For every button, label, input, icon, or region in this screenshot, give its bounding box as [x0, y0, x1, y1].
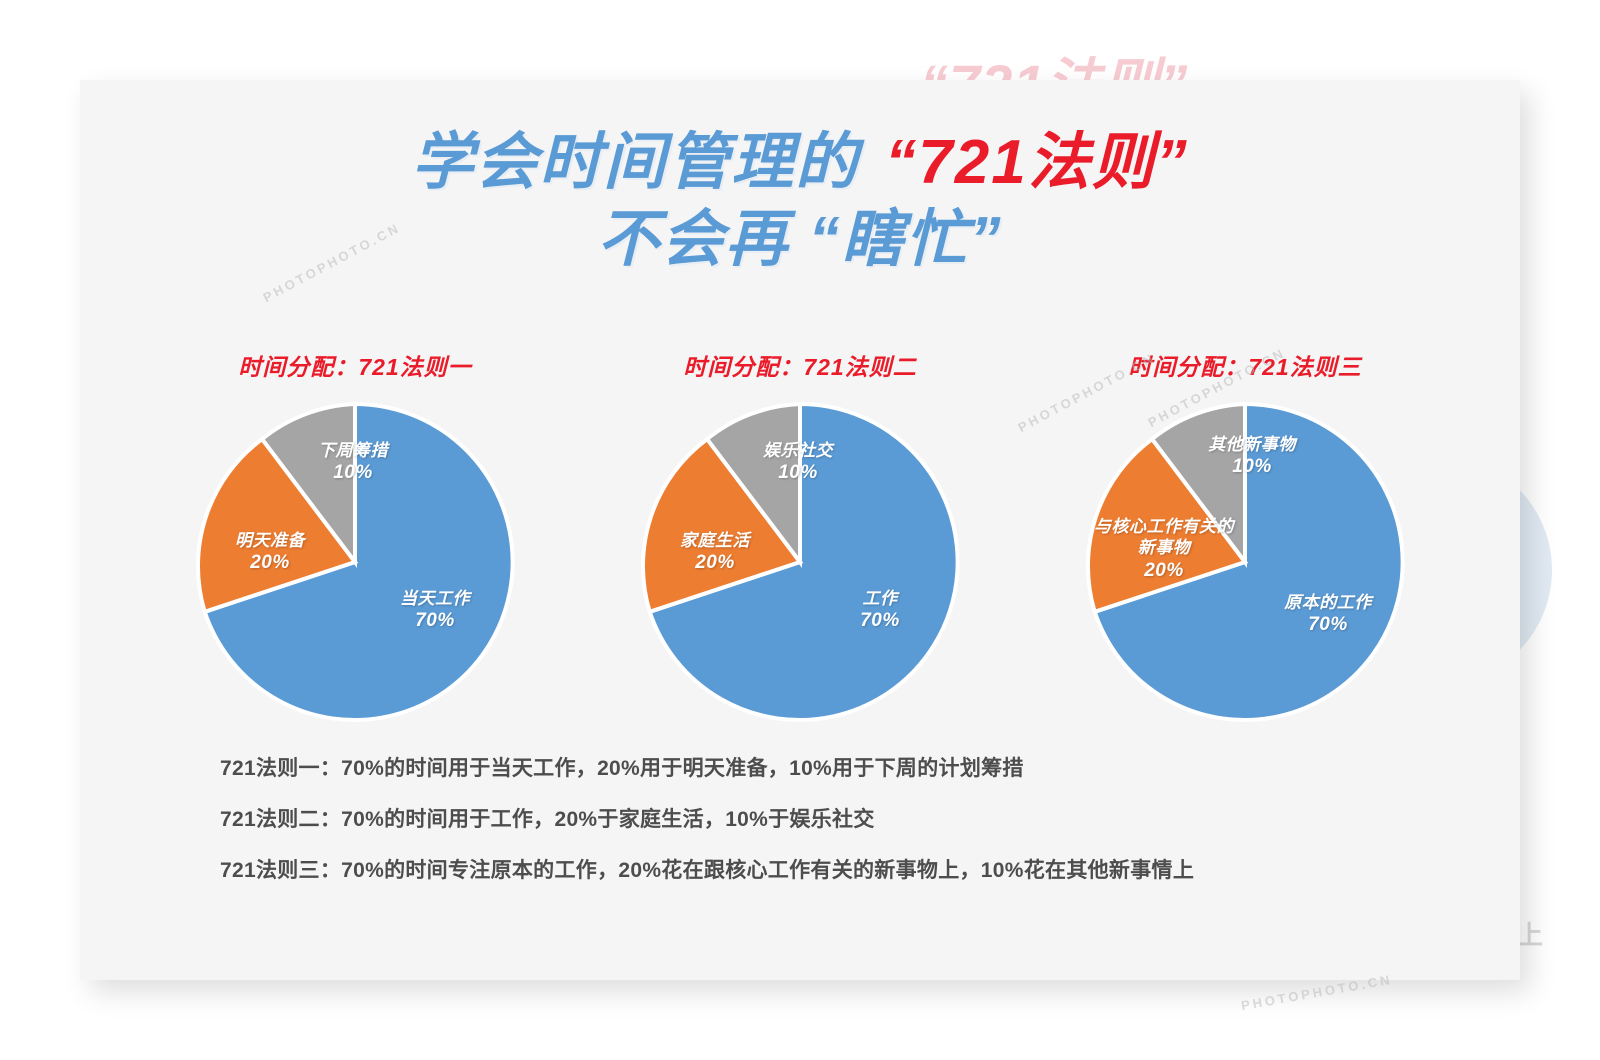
note-line-3: 721法则三：70%的时间专注原本的工作，20%花在跟核心工作有关的新事物上，1…: [220, 854, 1500, 884]
note-line-1: 721法则一：70%的时间用于当天工作，20%用于明天准备，10%用于下周的计划…: [220, 752, 1500, 782]
title-line-2: 不会再 “瞎忙”: [80, 205, 1520, 274]
watermark-site-4: PHOTOPHOTO.CN: [1240, 972, 1394, 1013]
title-line-1: 学会时间管理的“721法则”: [80, 128, 1520, 197]
title-line-1-blue: 学会时间管理的: [411, 128, 859, 197]
poster-canvas: “721法则” 事情上 学会时间管理的“721法则” 不会再 “瞎忙” 时间分配…: [0, 0, 1600, 1060]
chart-1-title: 时间分配：721法则一: [140, 348, 570, 382]
chart-1-pie: 当天工作 70% 明天准备 20% 下周筹措 10%: [185, 392, 525, 732]
pie-chart-3: 时间分配：721法则三 原本的工作 70% 与核心工作有关的新事物 20%: [1030, 348, 1460, 732]
page-title: 学会时间管理的“721法则” 不会再 “瞎忙”: [80, 128, 1520, 275]
pie-chart-2: 时间分配：721法则二 工作 70% 家庭生活 20%: [585, 348, 1015, 732]
notes-list: 721法则一：70%的时间用于当天工作，20%用于明天准备，10%用于下周的计划…: [220, 752, 1500, 905]
title-line-1-red: “721法则”: [885, 128, 1188, 197]
pie-svg-1: [185, 392, 525, 732]
charts-row: 时间分配：721法则一 当天工作 70% 明: [80, 348, 1520, 732]
chart-2-title: 时间分配：721法则二: [585, 348, 1015, 382]
note-line-2: 721法则二：70%的时间用于工作，20%于家庭生活，10%于娱乐社交: [220, 803, 1500, 833]
pie-svg-2: [630, 392, 970, 732]
poster-card: 学会时间管理的“721法则” 不会再 “瞎忙” 时间分配：721法则一: [80, 80, 1520, 980]
chart-3-title: 时间分配：721法则三: [1030, 348, 1460, 382]
title-line-2-blue: 不会再 “瞎忙”: [597, 205, 1002, 274]
chart-2-pie: 工作 70% 家庭生活 20% 娱乐社交 10%: [630, 392, 970, 732]
pie-svg-3: [1075, 392, 1415, 732]
pie-chart-1: 时间分配：721法则一 当天工作 70% 明: [140, 348, 570, 732]
chart-3-pie: 原本的工作 70% 与核心工作有关的新事物 20% 其他新事物 10%: [1075, 392, 1415, 732]
